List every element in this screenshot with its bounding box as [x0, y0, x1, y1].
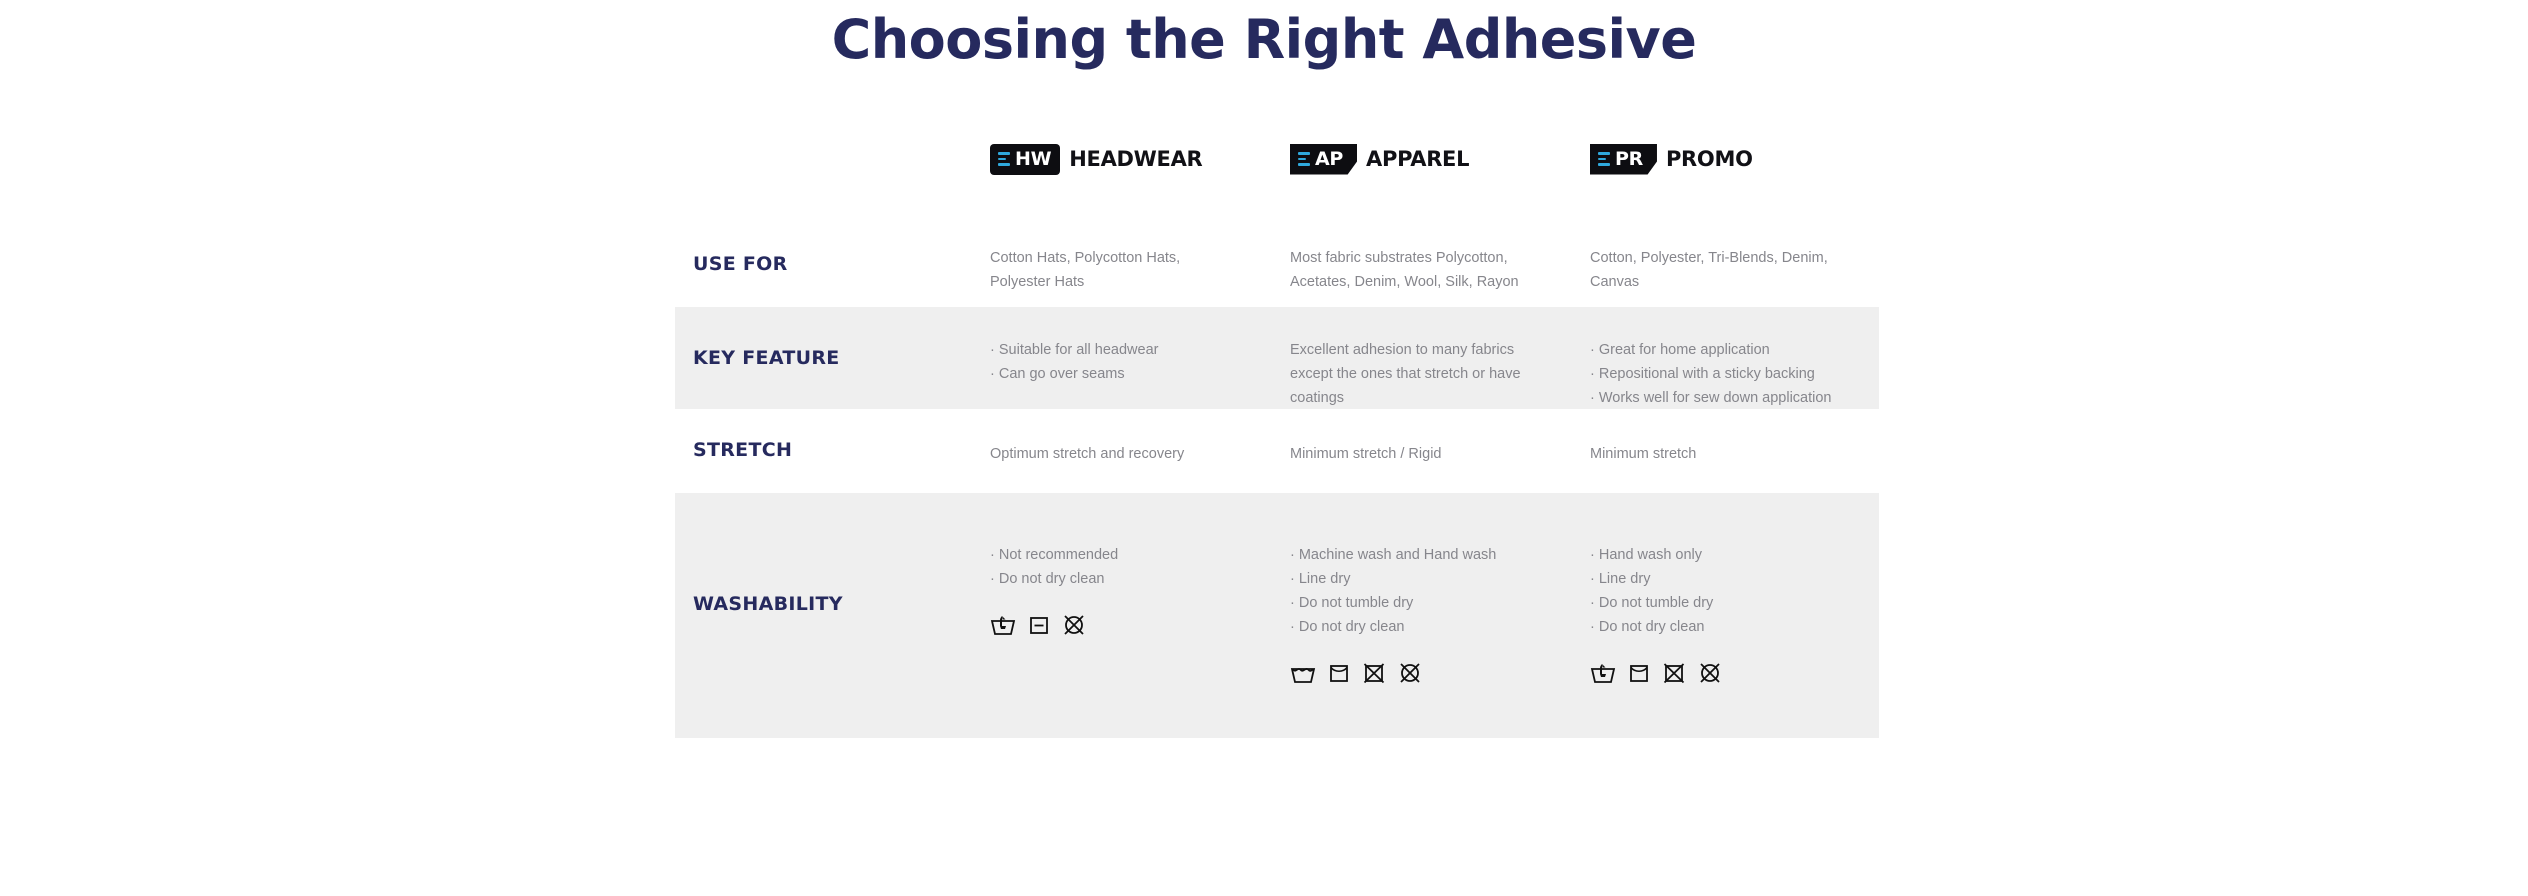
row-label-key-feature: KEY FEATURE: [675, 307, 990, 369]
column-header-headwear: HW HEADWEAR: [990, 126, 1290, 176]
cell-line: · Do not dry clean: [1290, 615, 1576, 639]
table-header-row: HW HEADWEAR AP APPAREL: [675, 126, 1879, 222]
cell-line: · Do not dry clean: [990, 567, 1276, 591]
cell-line: coatings: [1290, 386, 1576, 410]
logo-bars-icon: [1598, 152, 1610, 166]
care-symbols-apparel: [1290, 661, 1576, 685]
cell-stretch-apparel: Minimum stretch / Rigid: [1290, 409, 1590, 466]
headwear-logo-word: HEADWEAR: [1069, 147, 1202, 171]
headwear-logo: HW HEADWEAR: [990, 142, 1276, 176]
hand-wash-icon: [1590, 661, 1616, 685]
cell-key-feature-promo: · Great for home application · Repositio…: [1590, 307, 1890, 410]
cell-line: · Repositional with a sticky backing: [1590, 362, 1876, 386]
line-dry-flat-icon: [1028, 613, 1050, 637]
promo-logo-word: PROMO: [1666, 147, 1753, 171]
cell-line: · Line dry: [1590, 567, 1876, 591]
promo-logo: PR PROMO: [1590, 142, 1876, 176]
line-dry-icon: [1328, 661, 1350, 685]
cell-use-for-apparel: Most fabric substrates Polycotton, Aceta…: [1290, 222, 1590, 294]
cell-line: Cotton Hats, Polycotton Hats,: [990, 246, 1276, 270]
cell-line: · Do not dry clean: [1590, 615, 1876, 639]
cell-line: except the ones that stretch or have: [1290, 362, 1576, 386]
cell-line: · Hand wash only: [1590, 543, 1876, 567]
do-not-dry-clean-icon: [1698, 661, 1722, 685]
cell-line: Acetates, Denim, Wool, Silk, Rayon: [1290, 270, 1576, 294]
logo-bars-icon: [1298, 152, 1310, 166]
apparel-logo-abbr: AP: [1315, 150, 1343, 169]
adhesive-comparison-page: Choosing the Right Adhesive HW HEADWEAR: [0, 0, 2528, 896]
cell-line: · Do not tumble dry: [1590, 591, 1876, 615]
logo-bars-icon: [998, 152, 1010, 166]
table-row-key-feature: KEY FEATURE · Suitable for all headwear …: [675, 307, 1879, 409]
cell-line: · Can go over seams: [990, 362, 1276, 386]
do-not-dry-clean-icon: [1398, 661, 1422, 685]
care-symbols-headwear: [990, 613, 1276, 637]
cell-line: · Not recommended: [990, 543, 1276, 567]
column-header-promo: PR PROMO: [1590, 126, 1890, 176]
promo-logo-abbr: PR: [1615, 150, 1643, 169]
cell-key-feature-apparel: Excellent adhesion to many fabrics excep…: [1290, 307, 1590, 410]
cell-stretch-promo: Minimum stretch: [1590, 409, 1890, 466]
table-row-stretch: STRETCH Optimum stretch and recovery Min…: [675, 409, 1879, 493]
apparel-logo-word: APPAREL: [1366, 147, 1469, 171]
cell-washability-promo: · Hand wash only · Line dry · Do not tum…: [1590, 493, 1890, 685]
cell-key-feature-headwear: · Suitable for all headwear · Can go ove…: [990, 307, 1290, 386]
do-not-tumble-dry-icon: [1662, 661, 1686, 685]
cell-use-for-promo: Cotton, Polyester, Tri-Blends, Denim, Ca…: [1590, 222, 1890, 294]
row-label-washability: WASHABILITY: [675, 493, 990, 615]
row-label-use-for: USE FOR: [675, 222, 990, 275]
cell-line: · Suitable for all headwear: [990, 338, 1276, 362]
row-label-stretch: STRETCH: [675, 409, 990, 461]
hand-wash-icon: [990, 613, 1016, 637]
comparison-table: HW HEADWEAR AP APPAREL: [675, 126, 1879, 738]
care-symbols-promo: [1590, 661, 1876, 685]
line-dry-icon: [1628, 661, 1650, 685]
cell-line: Canvas: [1590, 270, 1876, 294]
column-header-apparel: AP APPAREL: [1290, 126, 1590, 176]
cell-use-for-headwear: Cotton Hats, Polycotton Hats, Polyester …: [990, 222, 1290, 294]
cell-line: · Works well for sew down application: [1590, 386, 1876, 410]
apparel-logo-badge: AP: [1290, 144, 1357, 175]
promo-logo-badge: PR: [1590, 144, 1657, 175]
cell-line: Optimum stretch and recovery: [990, 442, 1276, 466]
cell-line: Minimum stretch: [1590, 442, 1876, 466]
cell-stretch-headwear: Optimum stretch and recovery: [990, 409, 1290, 466]
apparel-logo: AP APPAREL: [1290, 142, 1576, 176]
cell-line: Most fabric substrates Polycotton,: [1290, 246, 1576, 270]
cell-line: Polyester Hats: [990, 270, 1276, 294]
cell-line: Minimum stretch / Rigid: [1290, 442, 1576, 466]
machine-wash-icon: [1290, 661, 1316, 685]
headwear-logo-abbr: HW: [1015, 150, 1051, 169]
cell-washability-apparel: · Machine wash and Hand wash · Line dry …: [1290, 493, 1590, 685]
table-row-use-for: USE FOR Cotton Hats, Polycotton Hats, Po…: [675, 222, 1879, 307]
do-not-tumble-dry-icon: [1362, 661, 1386, 685]
cell-line: · Great for home application: [1590, 338, 1876, 362]
cell-line: · Machine wash and Hand wash: [1290, 543, 1576, 567]
headwear-logo-badge: HW: [990, 144, 1060, 175]
cell-line: · Line dry: [1290, 567, 1576, 591]
cell-line: Cotton, Polyester, Tri-Blends, Denim,: [1590, 246, 1876, 270]
table-row-washability: WASHABILITY · Not recommended · Do not d…: [675, 493, 1879, 738]
cell-washability-headwear: · Not recommended · Do not dry clean: [990, 493, 1290, 637]
cell-line: Excellent adhesion to many fabrics: [1290, 338, 1576, 362]
page-title: Choosing the Right Adhesive: [0, 8, 2528, 71]
cell-line: · Do not tumble dry: [1290, 591, 1576, 615]
do-not-dry-clean-icon: [1062, 613, 1086, 637]
